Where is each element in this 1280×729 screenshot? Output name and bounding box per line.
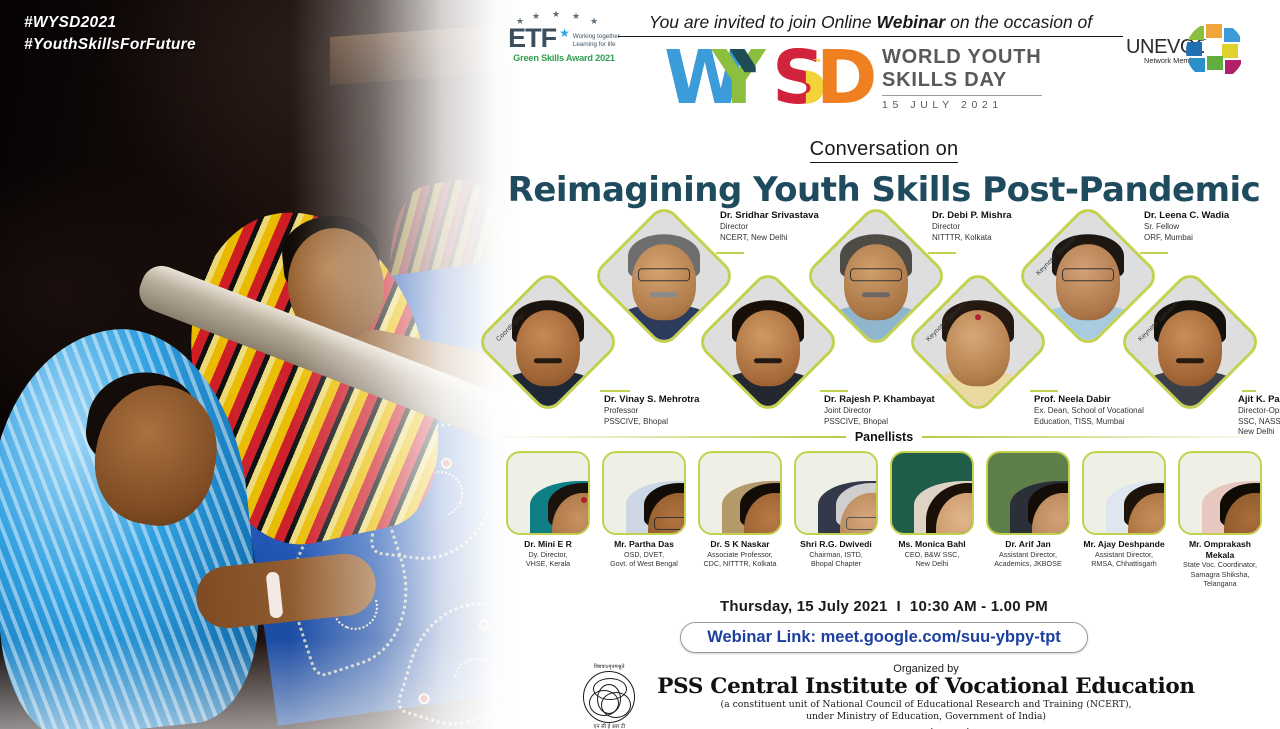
- schedule-date: Thursday, 15 July 2021: [720, 598, 888, 615]
- schedule-section: Thursday, 15 July 2021I10:30 AM - 1.00 P…: [488, 598, 1280, 653]
- panellist-card-arif-jan[interactable]: Dr. Arif Jan Assistant Director, Academi…: [983, 451, 1073, 589]
- conversation-kicker: Conversation on: [488, 138, 1280, 161]
- speakers-section: Coordinator Dr. Vinay S. Mehrotra Profes…: [488, 214, 1280, 426]
- speaker-diamond-neela-dabir[interactable]: Keynote Speaker Prof. Neela Dabir Ex. De…: [926, 290, 1030, 394]
- page-title: Reimagining Youth Skills Post-Pandemic: [488, 170, 1280, 210]
- panellist-photo: [1178, 451, 1262, 535]
- hashtag-youthskills: #YouthSkillsForFuture: [24, 34, 196, 56]
- wysd-date: 15 JULY 2021: [882, 95, 1042, 111]
- photo-bottom-fade: [0, 639, 520, 729]
- etf-wordmark: ETF: [508, 26, 556, 52]
- speaker-role-1: Director-Ops.,: [1238, 406, 1280, 416]
- schedule-separator: I: [888, 598, 910, 615]
- photo-white-fade: [0, 0, 520, 729]
- wysd-line-2: SKILLS DAY: [882, 69, 1042, 92]
- panellist-photo: [986, 451, 1070, 535]
- hashtag-block: #WYSD2021 #YouthSkillsForFuture: [24, 12, 196, 57]
- speaker-role-2: NITTTR, Kolkata: [932, 233, 1012, 243]
- panellist-name: Dr. Arif Jan: [983, 539, 1073, 550]
- speaker-photo: [904, 270, 1051, 415]
- panellist-photo: [698, 451, 782, 535]
- schedule-time: 10:30 AM - 1.00 PM: [910, 598, 1048, 615]
- panellist-name: Dr. S K Naskar: [695, 539, 785, 550]
- panellist-name: Mr. Ajay Deshpande: [1079, 539, 1169, 550]
- speaker-diamond-sridhar-srivastava[interactable]: Dr. Sridhar Srivastava Director NCERT, N…: [612, 224, 716, 328]
- speaker-name: Dr. Sridhar Srivastava: [720, 210, 819, 222]
- etf-stars-icon: ★ ★ ★ ★ ★: [498, 10, 630, 26]
- wysd-letter-d: D: [816, 42, 877, 114]
- ncert-motto-sanskrit: विद्ययाऽमृतमश्नुते: [573, 664, 645, 670]
- panellist-role-2: Govt. of West Bengal: [599, 559, 689, 568]
- panellist-role-1: Dy. Director,: [503, 550, 593, 559]
- organizer-name: PSS Central Institute of Vocational Educ…: [657, 675, 1195, 700]
- wysd-logo-block: W Y Y S S S D WORLD YOUTH SKILLS DAY 15 …: [664, 42, 1042, 114]
- speaker-name: Dr. Leena C. Wadia: [1144, 210, 1229, 222]
- webinar-link-label[interactable]: Webinar Link: meet.google.com/suu-ybpy-t…: [707, 628, 1061, 646]
- speaker-role-2: PSSCIVE, Bhopal: [604, 417, 699, 427]
- panellist-card-partha-das[interactable]: Mr. Partha Das OSD, DVET, Govt. of West …: [599, 451, 689, 589]
- etf-logo: ★ ★ ★ ★ ★ ETF ★ Working together Learnin…: [498, 10, 630, 63]
- invitation-line: You are invited to join Online Webinar o…: [618, 12, 1123, 37]
- speaker-name: Dr. Debi P. Mishra: [932, 210, 1012, 222]
- speaker-diamond-debi-p-mishra[interactable]: Dr. Debi P. Mishra Director NITTTR, Kolk…: [824, 224, 928, 328]
- speaker-role-2: ORF, Mumbai: [1144, 233, 1229, 243]
- speaker-photo: [474, 270, 621, 415]
- artisan-photograph: [0, 0, 520, 729]
- panellist-card-s-k-naskar[interactable]: Dr. S K Naskar Associate Professor, CDC,…: [695, 451, 785, 589]
- panellist-name: Dr. Mini E R: [503, 539, 593, 550]
- panellist-card-r-g-dwivedi[interactable]: Shri R.G. Dwivedi Chairman, ISTD, Bhopal…: [791, 451, 881, 589]
- wysd-letters-logo: W Y Y S S S D: [664, 42, 872, 114]
- poster-header: ★ ★ ★ ★ ★ ETF ★ Working together Learnin…: [488, 0, 1280, 132]
- panellist-card-monica-bahl[interactable]: Ms. Monica Bahl CEO, B&W SSC, New Delhi: [887, 451, 977, 589]
- panellist-photo: [602, 451, 686, 535]
- speaker-diamond-leena-c-wadia[interactable]: Keynote Speaker Dr. Leena C. Wadia Sr. F…: [1036, 224, 1140, 328]
- panellist-role-2: CDC, NITTTR, Kolkata: [695, 559, 785, 568]
- schedule-line: Thursday, 15 July 2021I10:30 AM - 1.00 P…: [488, 598, 1280, 615]
- webinar-link-button[interactable]: Webinar Link: meet.google.com/suu-ybpy-t…: [680, 622, 1088, 653]
- panellists-heading: Panellists: [488, 428, 1280, 446]
- speaker-name: Prof. Neela Dabir: [1034, 394, 1144, 406]
- speaker-name: Ajit K. Padhi: [1238, 394, 1280, 406]
- speaker-role-1: Ex. Dean, School of Vocational: [1034, 406, 1144, 416]
- speaker-role-2: NCERT, New Delhi: [720, 233, 819, 243]
- speaker-name: Dr. Rajesh P. Khambayat: [824, 394, 935, 406]
- ncert-logo: विद्ययाऽमृतमश्नुते एन सी ई आर टी NCERT: [573, 664, 645, 729]
- panellist-role-2: New Delhi: [887, 559, 977, 568]
- ncert-emblem-icon: [583, 671, 635, 723]
- panellist-role-1: Chairman, ISTD,: [791, 550, 881, 559]
- panellist-role-2: RMSA, Chhattisgarh: [1079, 559, 1169, 568]
- organizer-sub-1: (a constituent unit of National Council …: [657, 699, 1195, 711]
- organized-by-label: Organized by: [657, 663, 1195, 675]
- panellist-role-2: Samagra Shiksha, Telangana: [1175, 570, 1265, 589]
- panellist-role-2: Bhopal Chapter: [791, 559, 881, 568]
- panellist-photo: [890, 451, 974, 535]
- speaker-diamond-ajit-k-padhi[interactable]: Keynote Speaker Ajit K. Padhi Director-O…: [1138, 290, 1242, 394]
- panellist-role-1: Assistant Director,: [1079, 550, 1169, 559]
- wysd-line-1: WORLD YOUTH: [882, 46, 1042, 69]
- panellist-card-ajay-deshpande[interactable]: Mr. Ajay Deshpande Assistant Director, R…: [1079, 451, 1169, 589]
- panellist-role-1: Assistant Director,: [983, 550, 1073, 559]
- panellist-name: Ms. Monica Bahl: [887, 539, 977, 550]
- panellist-role-2: VHSE, Kerala: [503, 559, 593, 568]
- speaker-name: Dr. Vinay S. Mehrotra: [604, 394, 699, 406]
- panellist-photo: [1082, 451, 1166, 535]
- ncert-name-hindi: एन सी ई आर टी: [573, 724, 645, 729]
- speaker-role-2: Education, TISS, Mumbai: [1034, 417, 1144, 427]
- panellist-role-1: CEO, B&W SSC,: [887, 550, 977, 559]
- panellist-role-1: OSD, DVET,: [599, 550, 689, 559]
- etf-award-label: Green Skills Award 2021: [498, 53, 630, 63]
- etf-blue-star-icon: ★: [559, 26, 570, 40]
- panellists-grid: Dr. Mini E R Dy. Director, VHSE, Kerala …: [488, 451, 1280, 589]
- speaker-role-1: Joint Director: [824, 406, 935, 416]
- wysd-wordmark: WORLD YOUTH SKILLS DAY 15 JULY 2021: [882, 46, 1042, 111]
- organizer-footer: विद्ययाऽमृतमश्नुते एन सी ई आर टी NCERT O…: [488, 663, 1280, 729]
- speaker-role-1: Director: [932, 222, 1012, 232]
- unevoc-globe-icon: [1186, 22, 1244, 80]
- organizer-sub-2: under Ministry of Education, Government …: [657, 711, 1195, 723]
- panellist-name: Shri R.G. Dwivedi: [791, 539, 881, 550]
- panellist-card-omprakash-mekala[interactable]: Mr. Omprakash Mekala State Voc. Coordina…: [1175, 451, 1265, 589]
- panellists-rule-right: [922, 436, 1280, 438]
- speaker-diamond-rajesh-p-khambayat[interactable]: Dr. Rajesh P. Khambayat Joint Director P…: [716, 290, 820, 394]
- panellist-photo: [794, 451, 878, 535]
- panellist-name: Mr. Partha Das: [599, 539, 689, 550]
- webinar-poster: #WYSD2021 #YouthSkillsForFuture ★ ★ ★ ★ …: [0, 0, 1280, 729]
- etf-tagline: Working together Learning for life: [573, 33, 620, 52]
- panellists-rule-left: [488, 436, 846, 438]
- poster-content: ★ ★ ★ ★ ★ ETF ★ Working together Learnin…: [488, 0, 1280, 729]
- speaker-role-2: SSC, NASSCOM,: [1238, 417, 1280, 427]
- panellist-card-mini-e-r[interactable]: Dr. Mini E R Dy. Director, VHSE, Kerala: [503, 451, 593, 589]
- panellist-photo: [506, 451, 590, 535]
- panellist-role-2: Academics, JKBOSE: [983, 559, 1073, 568]
- organizer-text: Organized by PSS Central Institute of Vo…: [657, 663, 1195, 729]
- hashtag-wysd: #WYSD2021: [24, 12, 196, 34]
- speaker-role-1: Sr. Fellow: [1144, 222, 1229, 232]
- unevoc-logo: UNEVOC Network Member: [1126, 22, 1244, 80]
- speaker-role-1: Director: [720, 222, 819, 232]
- panellist-role-1: Associate Professor,: [695, 550, 785, 559]
- speaker-diamond-vinay-s-mehrotra[interactable]: Coordinator Dr. Vinay S. Mehrotra Profes…: [496, 290, 600, 394]
- panellist-role-1: State Voc. Coordinator,: [1175, 560, 1265, 569]
- speaker-role-2: PSSCIVE, Bhopal: [824, 417, 935, 427]
- panellist-name: Mr. Omprakash Mekala: [1175, 539, 1265, 560]
- speaker-role-1: Professor: [604, 406, 699, 416]
